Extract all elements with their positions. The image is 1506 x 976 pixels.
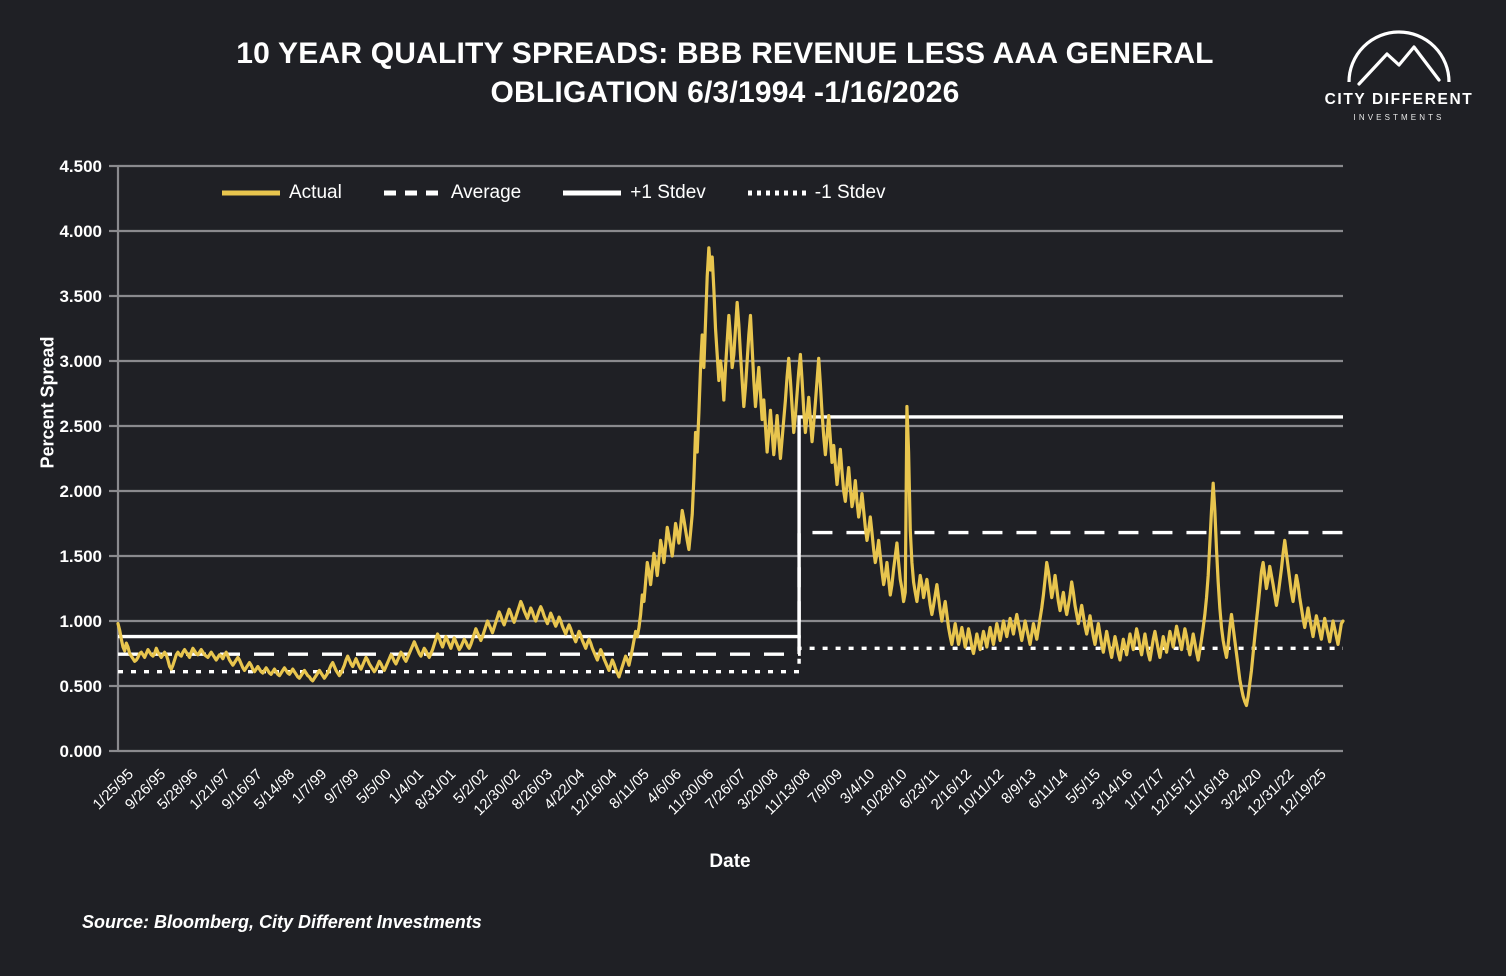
gridlines	[109, 166, 1343, 751]
y-tick-label: 4.000	[59, 222, 102, 241]
y-tick-label: 0.000	[59, 742, 102, 761]
legend-item-actual: Actual	[222, 182, 342, 204]
x-tick-label: 9/7/99	[321, 766, 363, 808]
y-tick-label: 4.500	[59, 157, 102, 176]
y-axis-title: Percent Spread	[38, 303, 59, 503]
legend-label-average: Average	[451, 182, 521, 204]
x-tick-label: 1/7/99	[289, 766, 331, 808]
legend-swatch-plus-stdev	[563, 188, 621, 198]
x-axis-title: Date	[640, 851, 820, 873]
chart-legend: Actual Average +1 Stdev -1 Stdev	[222, 182, 886, 204]
x-tick-label: 7/9/09	[805, 766, 847, 808]
source-note: Source: Bloomberg, City Different Invest…	[82, 912, 482, 933]
legend-swatch-average	[384, 188, 442, 198]
x-tick-label: 5/5/00	[353, 766, 395, 808]
legend-swatch-actual	[222, 188, 280, 198]
y-axis-ticks: 0.0000.5001.0001.5002.0002.5003.0003.500…	[59, 157, 102, 761]
y-tick-label: 3.000	[59, 352, 102, 371]
legend-item-average: Average	[384, 182, 521, 204]
legend-item-minus-stdev: -1 Stdev	[748, 182, 886, 204]
chart-container: 0.0000.5001.0001.5002.0002.5003.0003.500…	[0, 0, 1506, 976]
chart-svg: 0.0000.5001.0001.5002.0002.5003.0003.500…	[0, 0, 1506, 976]
x-axis-ticks: 1/25/959/26/955/28/961/21/979/16/975/14/…	[90, 766, 1330, 819]
y-tick-label: 1.500	[59, 547, 102, 566]
reference-line-1-stdev	[118, 417, 1343, 637]
y-tick-label: 2.000	[59, 482, 102, 501]
reference-lines	[118, 417, 1343, 672]
legend-item-plus-stdev: +1 Stdev	[563, 182, 706, 204]
legend-swatch-minus-stdev	[748, 188, 806, 198]
y-tick-label: 2.500	[59, 417, 102, 436]
y-tick-label: 0.500	[59, 677, 102, 696]
y-tick-label: 3.500	[59, 287, 102, 306]
legend-label-plus-stdev: +1 Stdev	[630, 182, 706, 204]
y-tick-label: 1.000	[59, 612, 102, 631]
legend-label-minus-stdev: -1 Stdev	[815, 182, 886, 204]
legend-label-actual: Actual	[289, 182, 342, 204]
